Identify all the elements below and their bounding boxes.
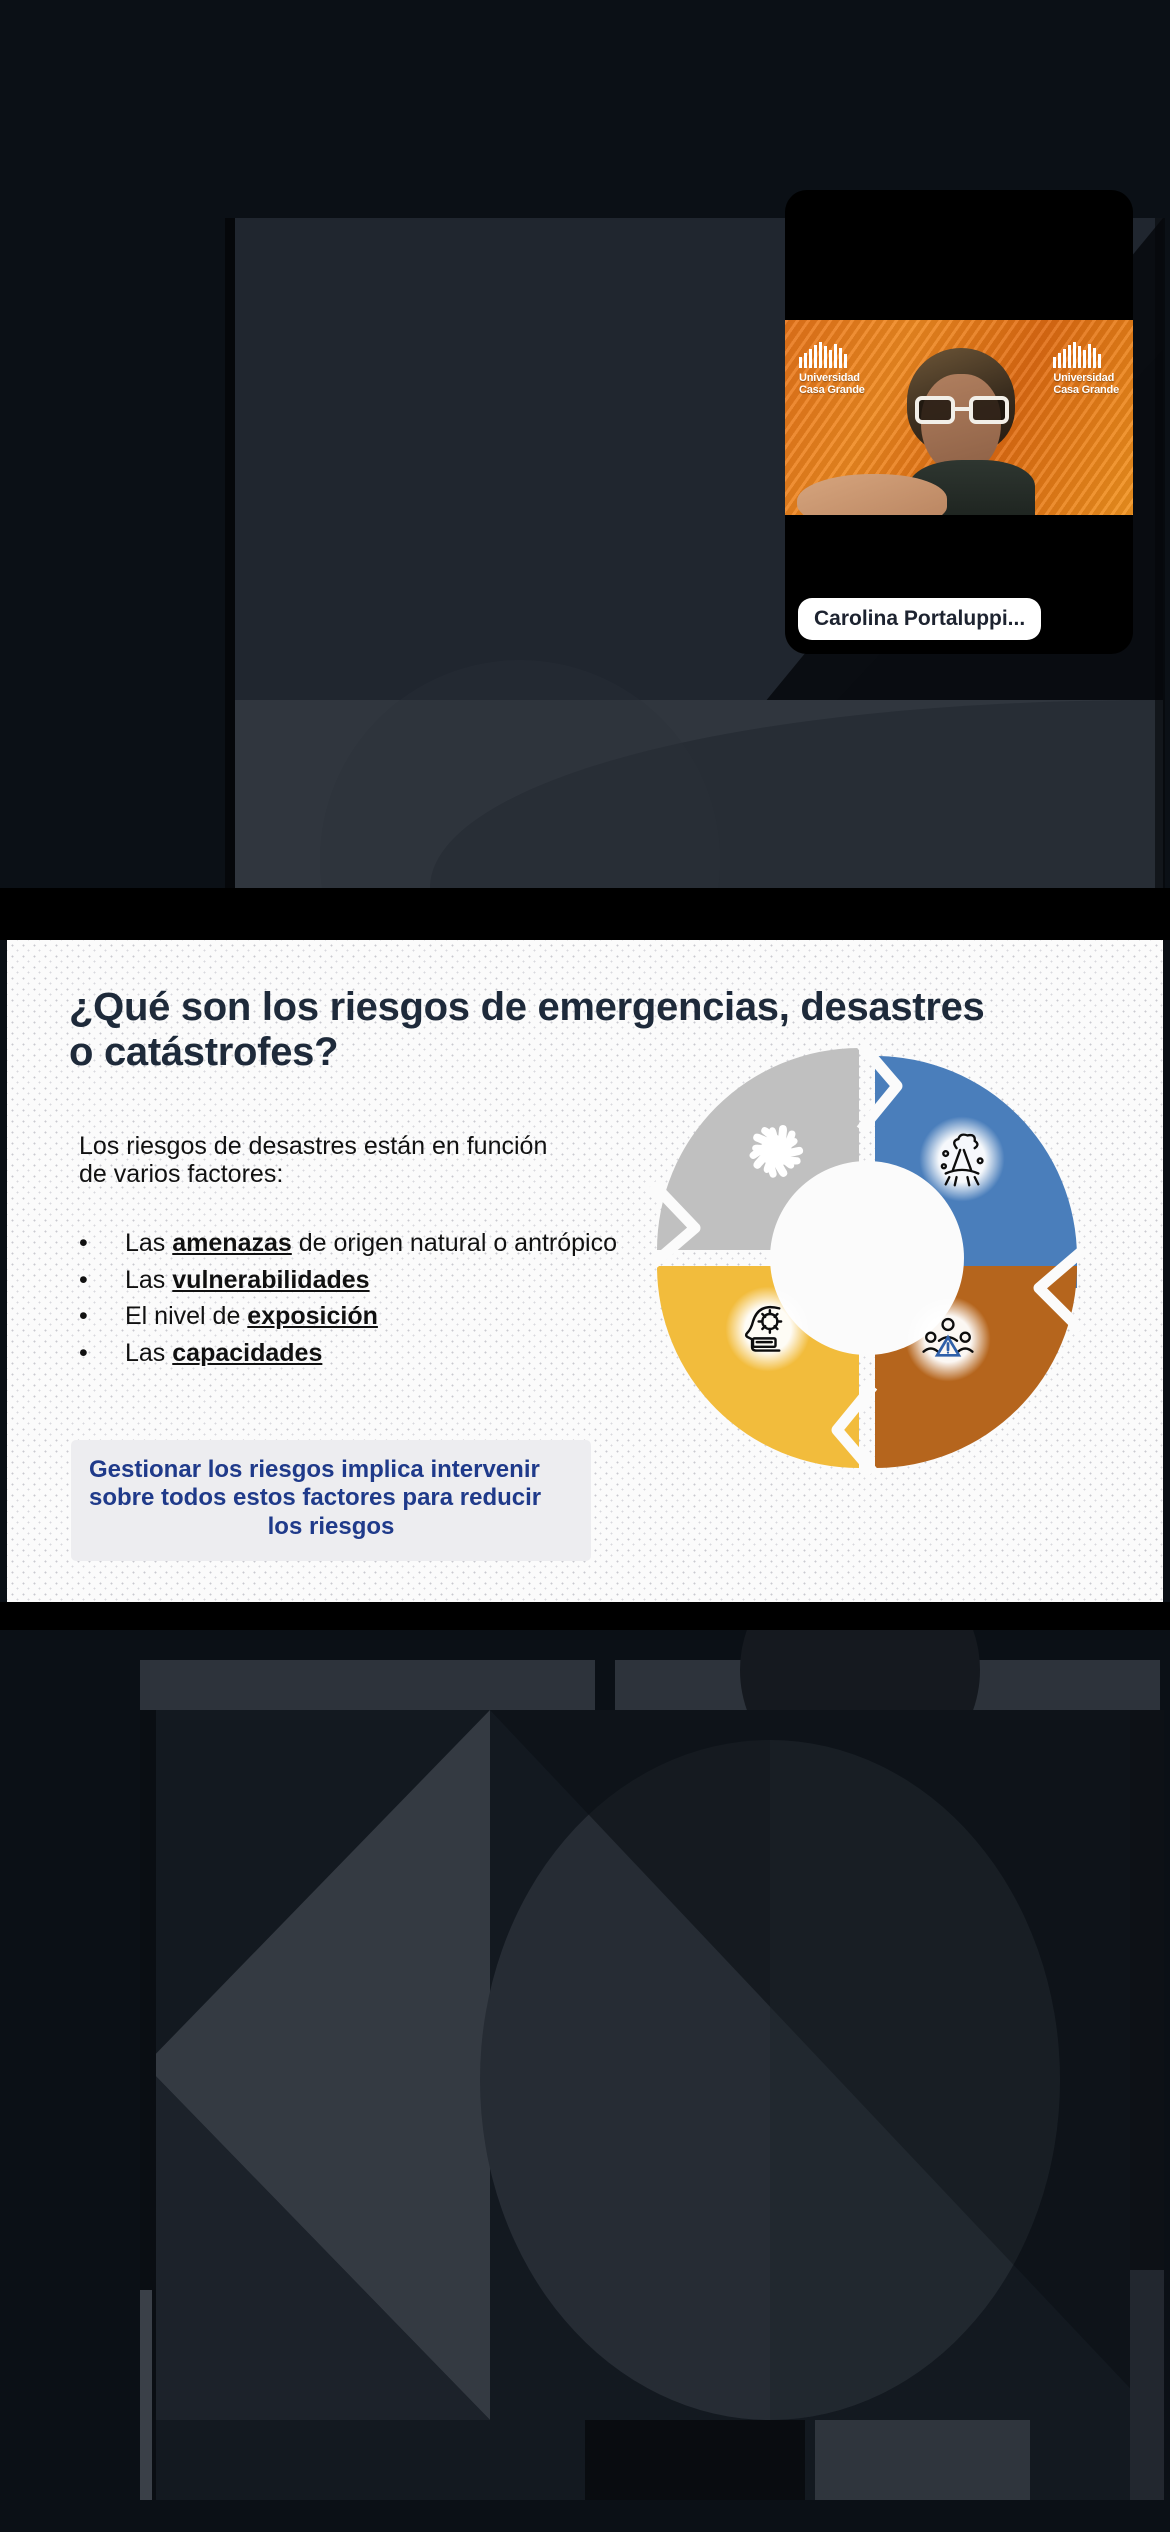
- list-item: • Las amenazas de origen natural o antró…: [79, 1230, 679, 1258]
- background-artwork-bottom: [0, 1630, 1170, 2532]
- hands-icon: [733, 1108, 819, 1194]
- university-logo-left: Universidad Casa Grande: [799, 342, 865, 396]
- video-feed: Universidad Casa Grande Universidad Casa…: [785, 320, 1133, 515]
- bullet-text: Las amenazas de origen natural o antrópi…: [125, 1230, 679, 1258]
- slide-callout-box: Gestionar los riesgos implica intervenir…: [71, 1440, 591, 1561]
- logo-text-left: Universidad Casa Grande: [799, 372, 865, 396]
- slide-title-line-1: ¿Qué son los riesgos de emergencias, des…: [69, 985, 1104, 1030]
- slide-intro-text: Los riesgos de desastres están en funció…: [79, 1132, 639, 1188]
- video-participant-tile[interactable]: Universidad Casa Grande Universidad Casa…: [785, 190, 1133, 654]
- callout-line-1: Gestionar los riesgos implica intervenir: [89, 1456, 573, 1484]
- university-logo-right: Universidad Casa Grande: [1053, 342, 1119, 396]
- letterbox-bottom: [0, 1602, 1170, 1630]
- bullet-text: Las vulnerabilidades: [125, 1267, 679, 1295]
- logo-text-right: Universidad Casa Grande: [1053, 372, 1119, 396]
- volcano-icon: [919, 1116, 1005, 1202]
- slide-bullet-list: • Las amenazas de origen natural o antró…: [79, 1230, 679, 1376]
- letterbox-top: [0, 888, 1170, 940]
- callout-line-3: los riesgos: [89, 1513, 573, 1541]
- logo-bars-icon-right: [1053, 342, 1119, 368]
- hand: [797, 474, 947, 515]
- callout-line-2: sobre todos estos factores para reducir: [89, 1484, 573, 1512]
- glasses: [915, 396, 1009, 424]
- presentation-slide[interactable]: ¿Qué son los riesgos de emergencias, des…: [7, 940, 1163, 1602]
- list-item: • Las capacidades: [79, 1340, 679, 1368]
- risk-factors-donut-chart: [647, 1038, 1087, 1478]
- bullet-marker-icon: •: [79, 1303, 125, 1331]
- list-item: • Las vulnerabilidades: [79, 1267, 679, 1295]
- screen-root: Universidad Casa Grande Universidad Casa…: [0, 0, 1170, 2532]
- slide-intro-line-1: Los riesgos de desastres están en funció…: [79, 1132, 639, 1160]
- bullet-marker-icon: •: [79, 1267, 125, 1295]
- background-shapes-bottom-svg: [0, 1630, 1170, 2532]
- bullet-marker-icon: •: [79, 1230, 125, 1258]
- participant-webcam-image: [881, 348, 1041, 515]
- people-warning-icon: [905, 1296, 991, 1382]
- participant-name-label: Carolina Portaluppi...: [798, 598, 1041, 640]
- bullet-text: Las capacidades: [125, 1340, 679, 1368]
- logo-bars-icon: [799, 342, 865, 368]
- slide-intro-line-2: de varios factores:: [79, 1160, 639, 1188]
- head-gear-icon: [725, 1286, 811, 1372]
- bullet-marker-icon: •: [79, 1340, 125, 1368]
- list-item: • El nivel de exposición: [79, 1303, 679, 1331]
- donut-chart-svg: [647, 1038, 1087, 1478]
- bullet-text: El nivel de exposición: [125, 1303, 679, 1331]
- face: [921, 374, 1001, 474]
